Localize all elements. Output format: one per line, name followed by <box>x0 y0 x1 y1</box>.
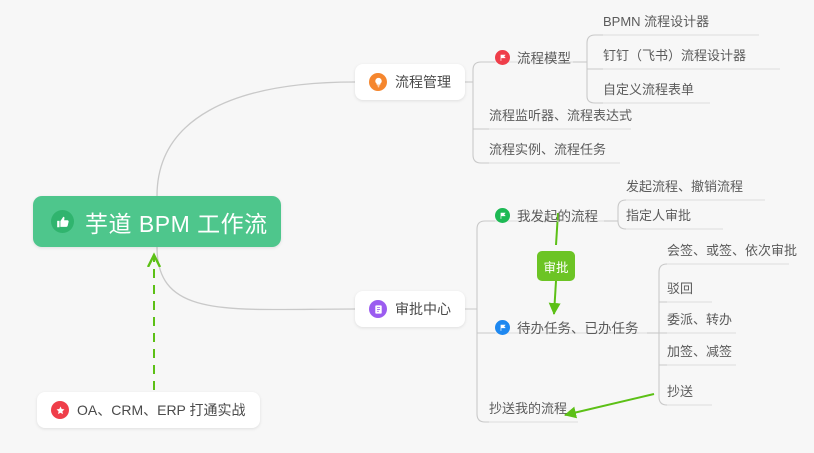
branch-label-process-management: 流程管理 <box>395 72 451 92</box>
approval-badge-label: 审批 <box>543 257 568 276</box>
leaf-add-remove-sign[interactable]: 加签、减签 <box>667 342 732 362</box>
connector-root-to-process-management <box>157 82 355 196</box>
connector-root-to-approval-center <box>157 247 355 310</box>
lightbulb-icon <box>369 73 387 91</box>
leaf-countersign-orsign-sequential[interactable]: 会签、或签、依次审批 <box>667 241 797 261</box>
leaf-carbon-copy[interactable]: 抄送 <box>667 382 693 402</box>
leaf-reject[interactable]: 驳回 <box>667 279 693 299</box>
side-note-card[interactable]: OA、CRM、ERP 打通实战 <box>37 392 260 428</box>
leaf-start-cancel-process[interactable]: 发起流程、撤销流程 <box>626 177 743 197</box>
subbranch-node-process-model[interactable]: 流程模型 <box>495 45 571 69</box>
clipboard-icon <box>369 300 387 318</box>
approval-badge[interactable]: 审批 <box>537 251 575 281</box>
connector-pmodel-child-1 <box>587 35 759 43</box>
connector-todo-child-1 <box>659 264 789 272</box>
subbranch-label-todo-done-tasks: 待办任务、已办任务 <box>517 317 639 337</box>
branch-label-approval-center: 审批中心 <box>395 299 451 319</box>
root-node[interactable]: 芋道 BPM 工作流 <box>33 196 281 247</box>
arrow-approval-bottom <box>554 281 556 314</box>
leaf-cc-to-me-process[interactable]: 抄送我的流程 <box>489 399 567 419</box>
subbranch-node-my-started-process[interactable]: 我发起的流程 <box>495 203 598 227</box>
leaf-dingtalk-feishu-designer[interactable]: 钉钉（飞书）流程设计器 <box>603 46 746 66</box>
leaf-process-listener-expression[interactable]: 流程监听器、流程表达式 <box>489 106 632 126</box>
flag-icon <box>495 320 510 335</box>
subbranch-label-my-started-process: 我发起的流程 <box>517 205 598 225</box>
branch-node-approval-center[interactable]: 审批中心 <box>355 291 465 327</box>
star-icon <box>51 401 69 419</box>
leaf-custom-process-form[interactable]: 自定义流程表单 <box>603 80 694 100</box>
leaf-delegate-transfer[interactable]: 委派、转办 <box>667 310 732 330</box>
leaf-assignee-approval[interactable]: 指定人审批 <box>626 206 691 226</box>
leaf-bpmn-designer[interactable]: BPMN 流程设计器 <box>603 12 709 32</box>
side-note-label: OA、CRM、ERP 打通实战 <box>77 400 246 420</box>
root-label: 芋道 BPM 工作流 <box>85 205 268 239</box>
flag-icon <box>495 50 510 65</box>
subbranch-node-todo-done-tasks[interactable]: 待办任务、已办任务 <box>495 315 639 339</box>
thumbs-up-icon <box>51 210 74 233</box>
branch-node-process-management[interactable]: 流程管理 <box>355 64 465 100</box>
mindmap-canvas: 芋道 BPM 工作流 流程管理 审批中心 <box>0 0 814 453</box>
flag-icon <box>495 208 510 223</box>
subbranch-label-process-model: 流程模型 <box>517 47 571 67</box>
leaf-process-instance-task[interactable]: 流程实例、流程任务 <box>489 140 606 160</box>
arrow-cc-to-my-process <box>565 394 654 415</box>
